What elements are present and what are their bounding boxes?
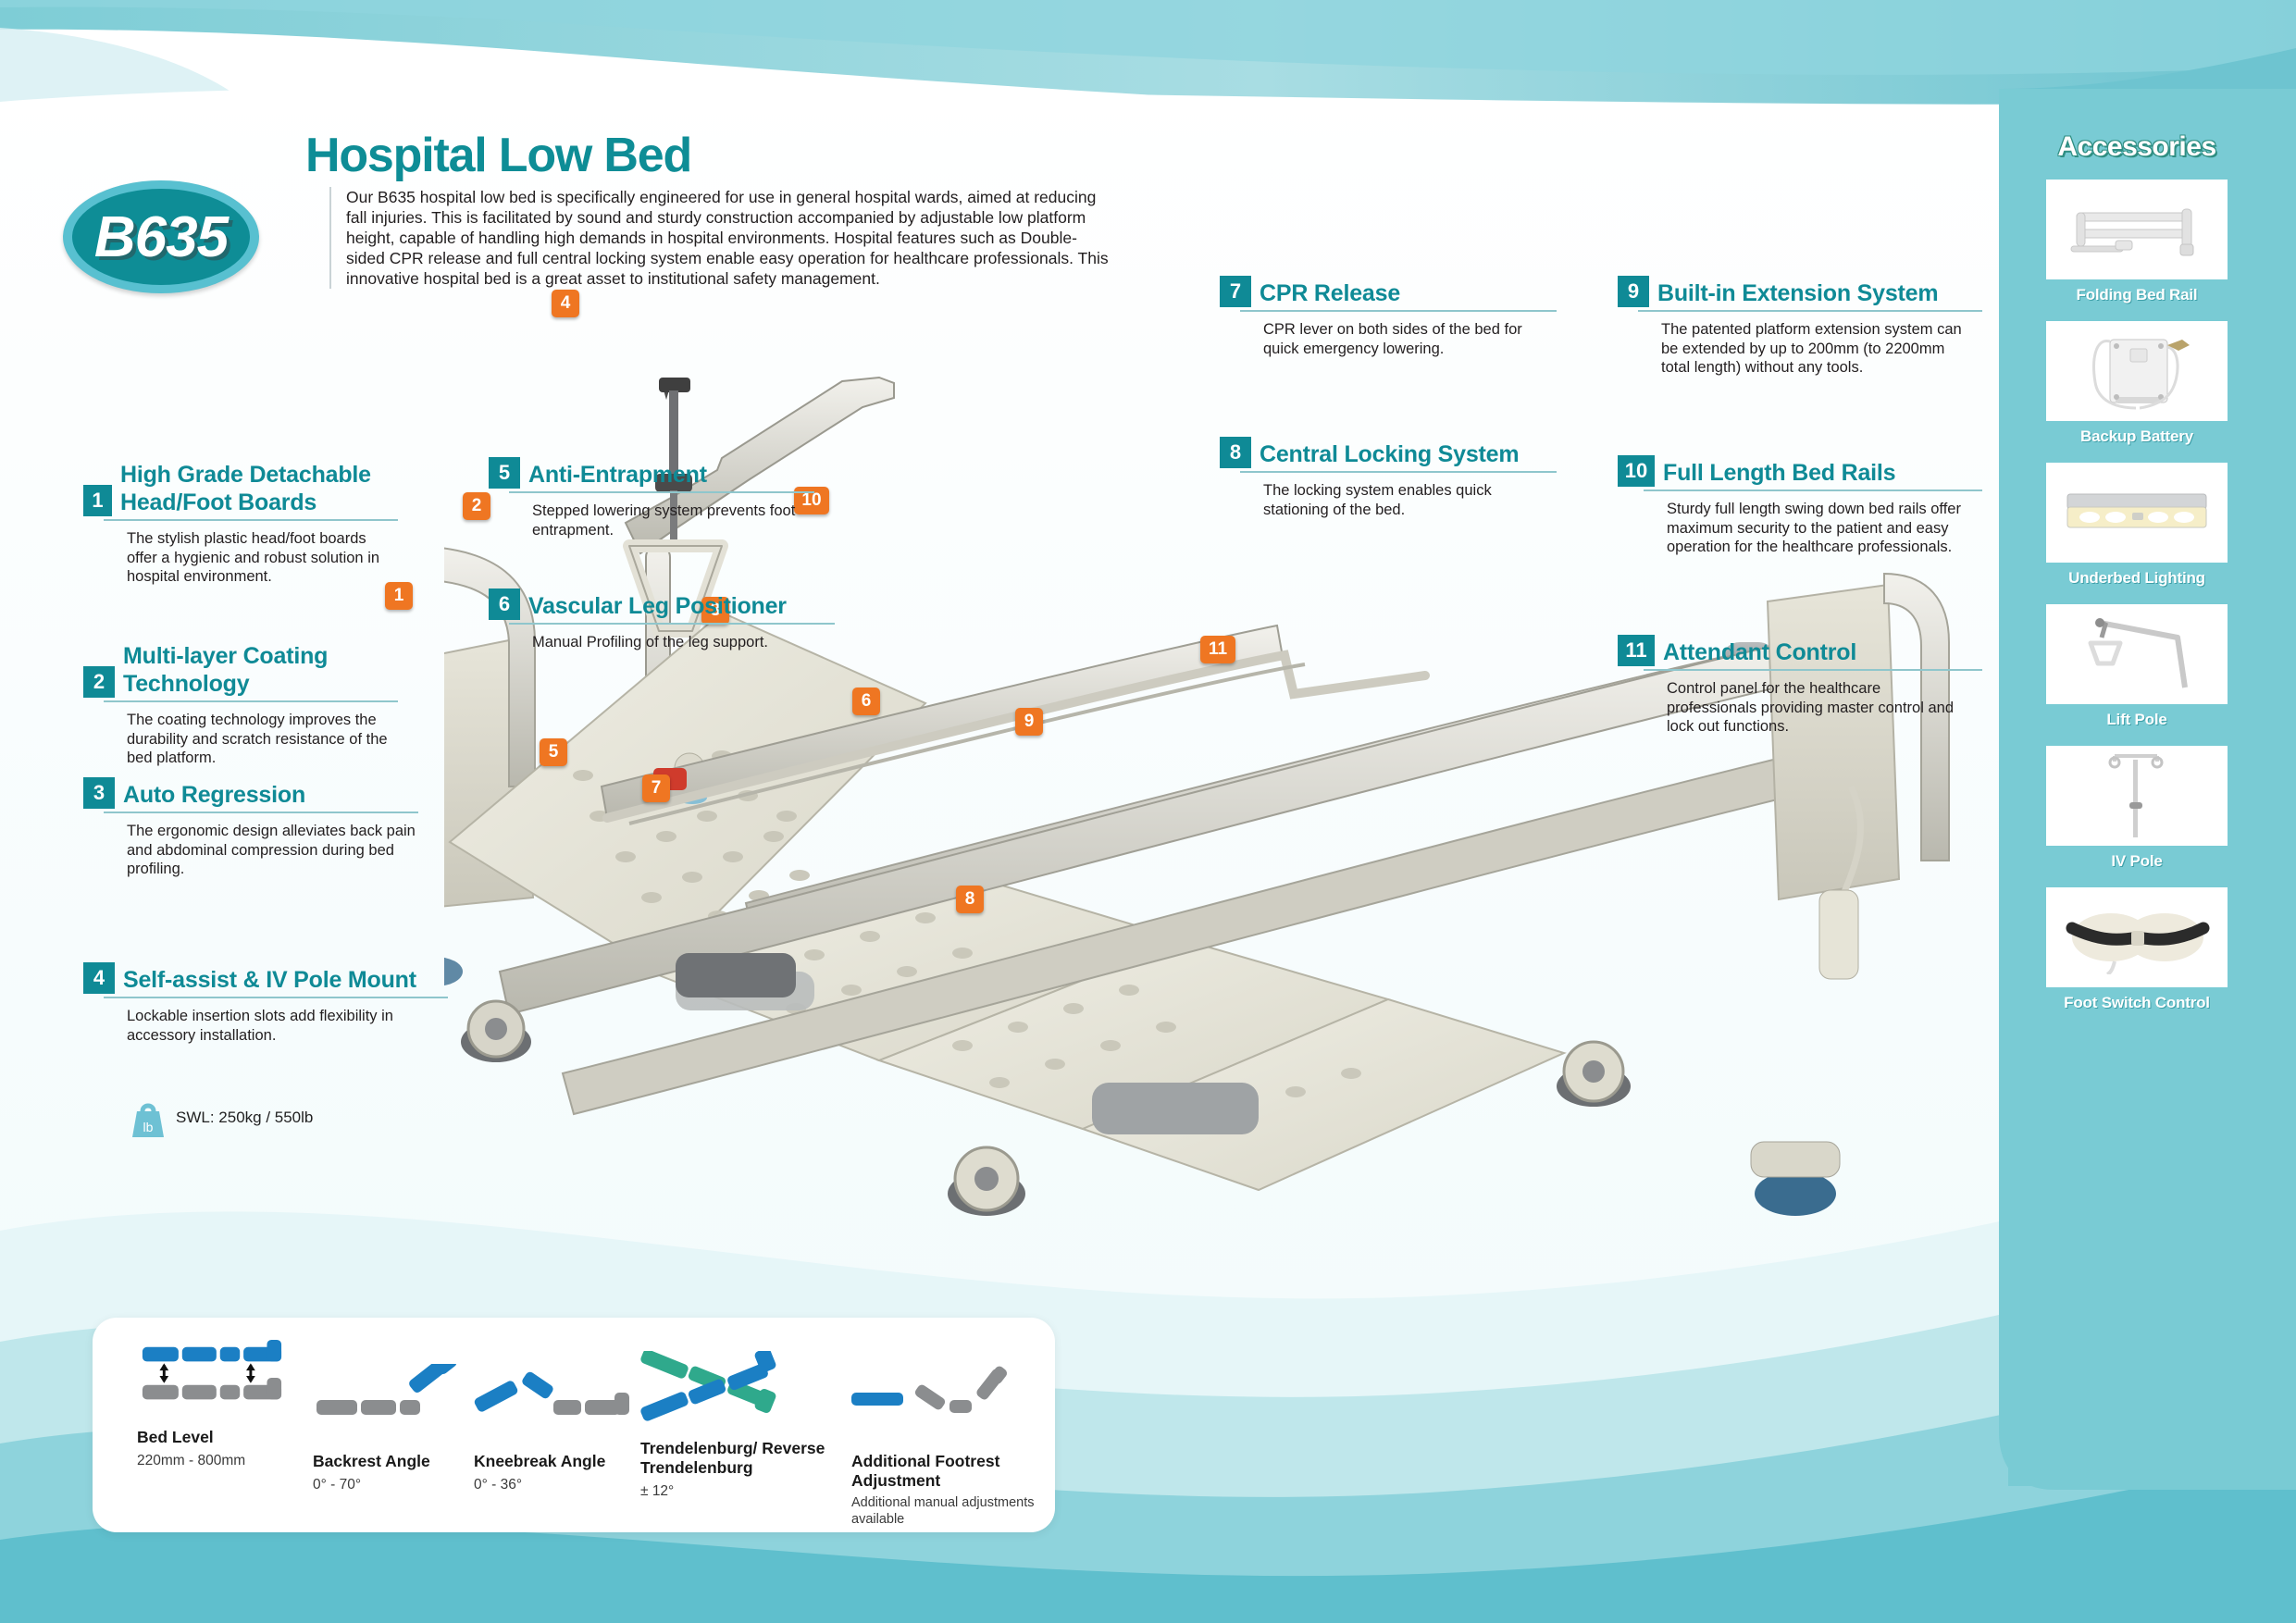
feature-11-number: 11 <box>1618 635 1655 666</box>
feature-1: 1 High Grade Detachable Head/Foot Boards… <box>83 461 398 587</box>
spec-title: Bed Level <box>137 1428 285 1447</box>
spec-value: ± 12° <box>640 1482 816 1500</box>
spec-value: 0° - 36° <box>474 1476 640 1493</box>
feature-3: 3 Auto Regression The ergonomic design a… <box>83 777 416 879</box>
accessory-label: Foot Switch Control <box>2008 994 2265 1012</box>
feature-7-number: 7 <box>1220 276 1251 307</box>
spec-value: 220mm - 800mm <box>137 1452 285 1469</box>
feature-2-body: The coating technology improves the dura… <box>127 711 404 768</box>
feature-9: 9 Built-in Extension System The patented… <box>1618 276 1969 378</box>
underbed-lighting-icon <box>2046 463 2228 563</box>
feature-11-body: Control panel for the healthcare profess… <box>1667 679 1963 737</box>
photo-marker-7[interactable]: 7 <box>642 774 670 802</box>
weight-icon-label: lb <box>143 1120 154 1134</box>
feature-1-number: 1 <box>83 485 112 516</box>
feature-3-number: 3 <box>83 777 115 809</box>
feature-10: 10 Full Length Bed Rails Sturdy full len… <box>1618 455 1969 557</box>
photo-marker-8[interactable]: 8 <box>956 886 984 913</box>
spec-bed-level: Bed Level 220mm - 800mm <box>137 1340 285 1469</box>
feature-5-body: Stepped lowering system prevents foot en… <box>532 502 819 539</box>
feature-11: 11 Attendant Control Control panel for t… <box>1618 635 1969 737</box>
spec-value: 0° - 70° <box>313 1476 470 1493</box>
photo-marker-1[interactable]: 1 <box>385 582 413 610</box>
feature-4: 4 Self-assist & IV Pole Mount Lockable i… <box>83 962 435 1045</box>
feature-4-body: Lockable insertion slots add flexibility… <box>127 1007 441 1045</box>
accessory-item-lift-pole[interactable]: Lift Pole <box>2008 604 2265 729</box>
iv-pole-icon <box>2046 746 2228 846</box>
accessory-label: IV Pole <box>2008 852 2265 871</box>
feature-4-title: Self-assist & IV Pole Mount <box>123 966 416 994</box>
accessory-item-underbed-lighting[interactable]: Underbed Lighting <box>2008 463 2265 588</box>
spec-title: Additional Footrest Adjustment <box>851 1452 1046 1491</box>
feature-8-title: Central Locking System <box>1260 440 1519 468</box>
accessory-label: Lift Pole <box>2008 711 2265 729</box>
feature-10-title: Full Length Bed Rails <box>1663 459 1895 487</box>
folding-bed-rail-icon <box>2046 180 2228 279</box>
page-title: Hospital Low Bed <box>305 128 691 183</box>
trendelenburg-icon <box>640 1351 807 1423</box>
backup-battery-icon <box>2046 321 2228 421</box>
feature-11-title: Attendant Control <box>1663 638 1856 666</box>
feature-2-title: Multi-layer Coating Technology <box>123 642 382 698</box>
accessory-item-foot-switch-control[interactable]: Foot Switch Control <box>2008 887 2265 1012</box>
foot-switch-control-icon <box>2046 887 2228 987</box>
feature-10-number: 10 <box>1618 455 1655 487</box>
accessories-title: Accessories <box>2008 89 2265 163</box>
photo-marker-2[interactable]: 2 <box>463 492 490 520</box>
kneebreak-angle-icon <box>474 1364 640 1436</box>
swl-text: SWL: 250kg / 550lb <box>176 1109 313 1127</box>
photo-marker-5[interactable]: 5 <box>540 738 567 766</box>
spec-backrest-angle: Backrest Angle 0° - 70° <box>313 1364 470 1493</box>
footrest-adjustment-icon <box>851 1364 1018 1436</box>
feature-8: 8 Central Locking System The locking sys… <box>1220 437 1544 519</box>
photo-marker-6[interactable]: 6 <box>852 688 880 715</box>
feature-9-title: Built-in Extension System <box>1657 279 1938 307</box>
photo-marker-11[interactable]: 11 <box>1200 636 1235 663</box>
spec-title: Kneebreak Angle <box>474 1452 640 1471</box>
feature-5-title: Anti-Entrapment <box>528 461 707 489</box>
accessory-label: Underbed Lighting <box>2008 569 2265 588</box>
feature-10-body: Sturdy full length swing down bed rails … <box>1667 500 1978 557</box>
backrest-angle-icon <box>313 1364 470 1436</box>
photo-marker-4[interactable]: 4 <box>552 290 579 317</box>
bed-level-icon <box>137 1340 285 1412</box>
accessory-label: Backup Battery <box>2008 427 2265 446</box>
swl-block: lb SWL: 250kg / 550lb <box>130 1096 313 1139</box>
feature-5-number: 5 <box>489 457 520 489</box>
lift-pole-icon <box>2046 604 2228 704</box>
product-logo: B635 <box>63 180 259 293</box>
spec-sub: Additional manual adjustments available <box>851 1494 1036 1528</box>
feature-9-number: 9 <box>1618 276 1649 307</box>
weight-icon: lb <box>130 1096 167 1139</box>
feature-9-body: The patented platform extension system c… <box>1661 320 1972 378</box>
feature-6: 6 Vascular Leg Positioner Manual Profili… <box>489 588 822 652</box>
spec-trendelenburg: Trendelenburg/ Reverse Trendelenburg ± 1… <box>640 1351 816 1500</box>
specifications-card: Bed Level 220mm - 800mm Backrest Angle 0… <box>93 1318 1055 1532</box>
feature-8-body: The locking system enables quick station… <box>1263 481 1552 519</box>
feature-3-title: Auto Regression <box>123 781 305 809</box>
feature-3-body: The ergonomic design alleviates back pai… <box>127 822 432 879</box>
spec-kneebreak-angle: Kneebreak Angle 0° - 36° <box>474 1364 640 1493</box>
feature-8-number: 8 <box>1220 437 1251 468</box>
feature-7: 7 CPR Release CPR lever on both sides of… <box>1220 276 1544 358</box>
feature-2-number: 2 <box>83 666 115 698</box>
feature-6-title: Vascular Leg Positioner <box>528 592 787 620</box>
feature-7-body: CPR lever on both sides of the bed for q… <box>1263 320 1552 358</box>
feature-7-title: CPR Release <box>1260 279 1400 307</box>
accessory-item-backup-battery[interactable]: Backup Battery <box>2008 321 2265 446</box>
feature-6-body: Manual Profiling of the leg support. <box>532 633 838 652</box>
feature-2: 2 Multi-layer Coating Technology The coa… <box>83 642 398 768</box>
spec-footrest-adjustment: Additional Footrest Adjustment Additiona… <box>851 1364 1036 1528</box>
spec-title: Backrest Angle <box>313 1452 470 1471</box>
feature-1-body: The stylish plastic head/foot boards off… <box>127 529 395 587</box>
feature-4-number: 4 <box>83 962 115 994</box>
feature-6-number: 6 <box>489 588 520 620</box>
accessory-item-iv-pole[interactable]: IV Pole <box>2008 746 2265 871</box>
accessory-label: Folding Bed Rail <box>2008 286 2265 304</box>
feature-5: 5 Anti-Entrapment Stepped lowering syste… <box>489 457 803 539</box>
logo-text: B635 <box>94 204 228 270</box>
feature-1-title: High Grade Detachable Head/Foot Boards <box>120 461 398 516</box>
accessories-panel: Accessories Folding Bed Rail <box>2008 89 2265 1486</box>
spec-title: Trendelenburg/ Reverse Trendelenburg <box>640 1439 825 1478</box>
photo-marker-9[interactable]: 9 <box>1015 708 1043 736</box>
accessory-item-folding-bed-rail[interactable]: Folding Bed Rail <box>2008 180 2265 304</box>
